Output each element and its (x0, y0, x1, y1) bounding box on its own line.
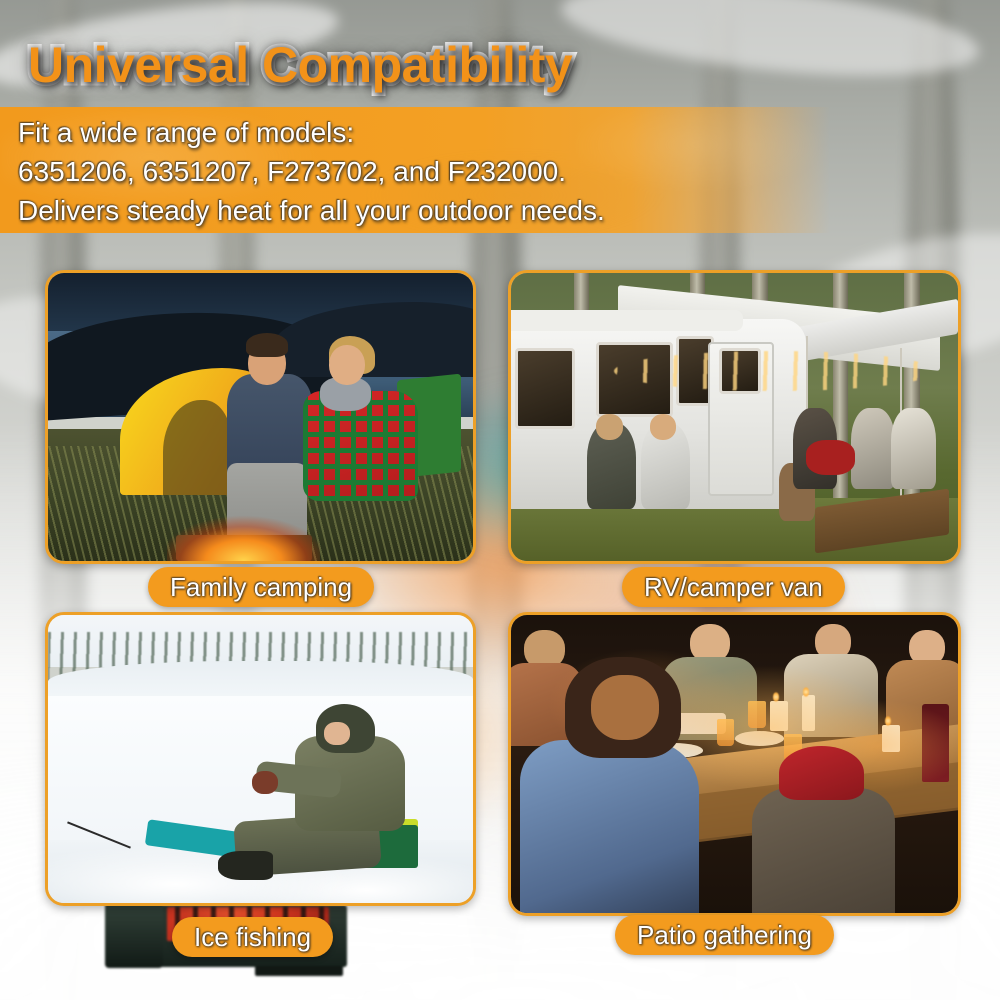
caption-label: Family camping (170, 572, 352, 603)
caravan-roof (508, 310, 743, 330)
caption-patio-gathering: Patio gathering (615, 915, 834, 955)
photo-card-rv-camper-van[interactable] (508, 270, 961, 564)
person-seated (891, 408, 936, 489)
angler-face (324, 722, 350, 745)
man-torso (227, 374, 312, 478)
caption-label: Patio gathering (637, 920, 812, 951)
photo-card-family-camping[interactable] (45, 270, 476, 564)
person-head (650, 414, 677, 440)
photo-patio-gathering (511, 615, 958, 913)
angler-glove (252, 771, 278, 794)
photo-card-ice-fishing[interactable] (45, 612, 476, 906)
child-back (752, 788, 895, 916)
heater-end-cap (105, 902, 163, 968)
guitar (806, 440, 855, 475)
photo-rv-camper-van (511, 273, 958, 561)
banner-line-1: Fit a wide range of models: (18, 114, 354, 151)
caption-rv-camper-van: RV/camper van (622, 567, 845, 607)
child-red-beanie (779, 746, 864, 800)
string-lights (614, 351, 936, 391)
person-seated (851, 408, 896, 489)
person-head (596, 414, 623, 440)
photo-ice-fishing (48, 615, 473, 903)
woman-head (329, 345, 365, 385)
caption-family-camping: Family camping (148, 567, 374, 607)
caption-ice-fishing: Ice fishing (172, 917, 333, 957)
caption-label: RV/camper van (644, 572, 823, 603)
campfire-flames (167, 509, 320, 564)
product-infographic: Universal Compatibility Fit a wide range… (0, 0, 1000, 1000)
heater-foot (255, 966, 343, 976)
host-face (591, 675, 658, 741)
banner-line-2: 6351206, 6351207, F273702, and F232000. (18, 153, 566, 190)
photo-family-camping (48, 273, 473, 561)
host-shirt (520, 740, 699, 913)
banner-line-3: Delivers steady heat for all your outdoo… (18, 192, 605, 229)
caption-label: Ice fishing (194, 922, 311, 953)
man-hair (246, 333, 289, 356)
photo-card-patio-gathering[interactable] (508, 612, 961, 916)
page-title: Universal Compatibility (28, 36, 572, 94)
caravan-window (515, 348, 575, 429)
angler-boot (218, 851, 273, 880)
